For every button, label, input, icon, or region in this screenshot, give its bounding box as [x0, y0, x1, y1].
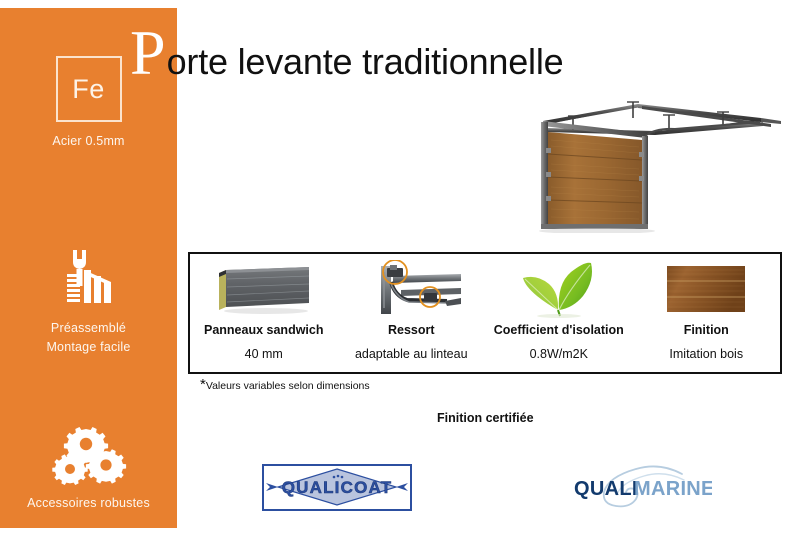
- wood-swatch-icon: [659, 259, 753, 319]
- feature-value-finition: Imitation bois: [669, 347, 743, 361]
- feature-cell-finition: Finition Imitation bois: [633, 254, 781, 372]
- qualicoat-wordmark: QUALICOAT: [282, 478, 393, 497]
- gears-icon: [0, 423, 177, 485]
- sidebar-label-preassemble: Préassemblé: [0, 319, 177, 338]
- qualimarine-wordmark-light: MARINE: [634, 478, 712, 500]
- fe-element-box-icon: Fe: [56, 56, 122, 122]
- sidebar-label-acier: Acier 0.5mm: [0, 132, 177, 151]
- footnote-text: Valeurs variables selon dimensions: [206, 380, 370, 392]
- feature-title-isolation: Coefficient d'isolation: [494, 323, 624, 337]
- sidebar-item-preassemble: Préassemblé Montage facile: [0, 248, 177, 357]
- fe-symbol-label: Fe: [72, 74, 105, 105]
- green-leaves-icon: [513, 259, 605, 319]
- feature-cell-ressort: Ressort adaptable au linteau: [338, 254, 486, 372]
- sidebar-item-accessoires: Accessoires robustes: [0, 423, 177, 513]
- feature-title-ressort: Ressort: [388, 323, 435, 337]
- page-title-rest: orte levante traditionnelle: [167, 37, 564, 87]
- qualicoat-logo: QUALICOAT: [262, 464, 412, 511]
- sidebar-label-montage-facile: Montage facile: [0, 338, 177, 357]
- page-title-initial: P: [130, 24, 166, 82]
- page-title: P orte levante traditionnelle: [130, 24, 563, 82]
- feature-title-finition: Finition: [684, 323, 729, 337]
- features-box: Panneaux sandwich 40 mm: [188, 252, 782, 374]
- feature-title-panneaux: Panneaux sandwich: [204, 323, 323, 337]
- qualimarine-logo: QUALI MARINE: [564, 464, 712, 512]
- feature-cell-isolation: Coefficient d'isolation 0.8W/m2K: [485, 254, 633, 372]
- feature-value-panneaux: 40 mm: [245, 347, 283, 361]
- qualimarine-wordmark-bold: QUALI: [574, 478, 638, 500]
- product-datasheet-page: Fe Acier 0.5mm: [0, 0, 800, 534]
- wrench-assembly-icon: [0, 248, 177, 310]
- feature-value-isolation: 0.8W/m2K: [530, 347, 588, 361]
- spring-rail-mechanism-icon: [357, 259, 465, 319]
- sandwich-panel-icon: [210, 259, 318, 319]
- feature-value-ressort: adaptable au linteau: [355, 347, 468, 361]
- sectional-garage-door-image: [505, 88, 790, 233]
- footnote: *Valeurs variables selon dimensions: [200, 380, 370, 392]
- feature-cell-panneaux: Panneaux sandwich 40 mm: [190, 254, 338, 372]
- sidebar-label-accessoires: Accessoires robustes: [0, 494, 177, 513]
- certification-heading: Finition certifiée: [437, 411, 534, 425]
